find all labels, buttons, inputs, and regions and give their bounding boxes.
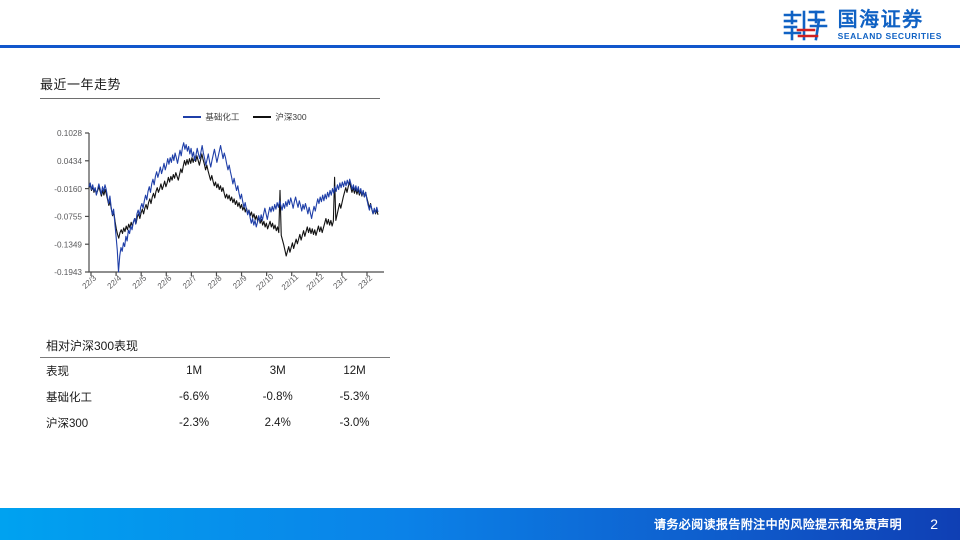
- footer-disclaimer: 请务必阅读报告附注中的风险提示和免责声明: [654, 516, 902, 533]
- brand-logo-text: 国海证券 SEALAND SECURITIES: [838, 10, 942, 41]
- cell-basic-chemicals-12m: -5.3%: [319, 384, 390, 410]
- svg-text:22/3: 22/3: [81, 273, 99, 290]
- svg-text:22/9: 22/9: [231, 273, 249, 290]
- relative-performance-table: 表现 1M 3M 12M 基础化工 -6.6% -0.8% -5.3% 沪深30…: [40, 357, 390, 436]
- svg-text:22/8: 22/8: [206, 273, 224, 290]
- col-header-3m: 3M: [236, 358, 319, 385]
- chart-plot-area: 0.10280.0434-0.0160-0.0755-0.1349-0.1943…: [40, 104, 390, 304]
- slide-page: 国海证券 SEALAND SECURITIES 最近一年走势 基础化工 沪深30…: [0, 0, 960, 540]
- table-row: 基础化工 -6.6% -0.8% -5.3%: [40, 384, 390, 410]
- page-footer: 请务必阅读报告附注中的风险提示和免责声明 2: [0, 508, 960, 540]
- cell-csi300-12m: -3.0%: [319, 410, 390, 436]
- cell-csi300-3m: 2.4%: [236, 410, 319, 436]
- sealand-logo-icon: [783, 9, 829, 42]
- page-header: 国海证券 SEALAND SECURITIES: [0, 0, 960, 48]
- svg-text:22/10: 22/10: [255, 272, 276, 292]
- table-header-row: 表现 1M 3M 12M: [40, 358, 390, 385]
- cell-basic-chemicals-1m: -6.6%: [152, 384, 237, 410]
- svg-text:22/7: 22/7: [181, 273, 199, 290]
- row-label-csi300: 沪深300: [40, 410, 152, 436]
- brand-name-cn: 国海证券: [838, 10, 942, 31]
- svg-text:-0.1943: -0.1943: [54, 268, 82, 277]
- col-header-1m: 1M: [152, 358, 237, 385]
- table-row: 沪深300 -2.3% 2.4% -3.0%: [40, 410, 390, 436]
- svg-text:-0.1349: -0.1349: [54, 240, 82, 249]
- svg-text:0.0434: 0.0434: [57, 157, 82, 166]
- cell-csi300-1m: -2.3%: [152, 410, 237, 436]
- svg-text:0.1028: 0.1028: [57, 129, 82, 138]
- section-title-underline: [40, 98, 380, 99]
- header-divider: [0, 45, 960, 48]
- svg-text:22/5: 22/5: [131, 273, 149, 290]
- svg-text:22/12: 22/12: [305, 272, 326, 292]
- brand-logo: 国海证券 SEALAND SECURITIES: [783, 8, 942, 42]
- table-title: 相对沪深300表现: [46, 337, 138, 354]
- svg-text:22/11: 22/11: [280, 272, 301, 292]
- svg-text:-0.0755: -0.0755: [54, 213, 82, 222]
- cell-basic-chemicals-3m: -0.8%: [236, 384, 319, 410]
- one-year-trend-chart: 基础化工 沪深300 0.10280.0434-0.0160-0.0755-0.…: [40, 104, 390, 304]
- footer-page-number: 2: [930, 516, 938, 532]
- col-header-12m: 12M: [319, 358, 390, 385]
- svg-text:23/2: 23/2: [357, 273, 375, 290]
- svg-text:22/6: 22/6: [156, 273, 174, 290]
- brand-name-en: SEALAND SECURITIES: [838, 31, 942, 41]
- col-header-metric: 表现: [40, 358, 152, 385]
- svg-text:23/1: 23/1: [331, 273, 349, 290]
- row-label-basic-chemicals: 基础化工: [40, 384, 152, 410]
- svg-text:-0.0160: -0.0160: [54, 185, 82, 194]
- svg-text:22/4: 22/4: [106, 273, 124, 290]
- section-title: 最近一年走势: [40, 74, 121, 93]
